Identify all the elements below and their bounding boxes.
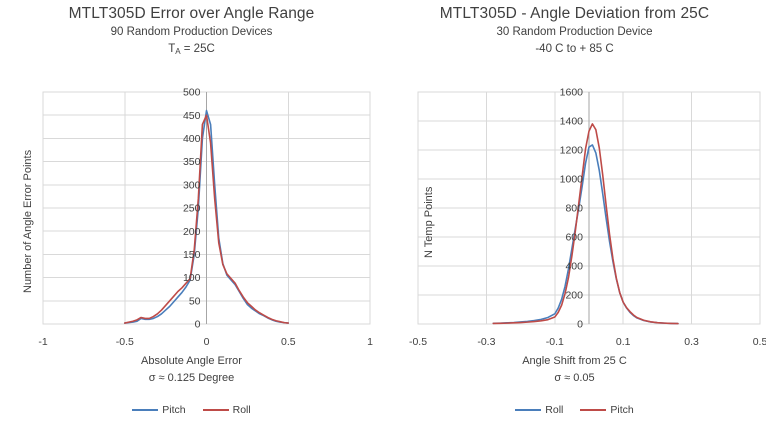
plot-svg-right: 02004006008001000120014001600 [383, 84, 766, 330]
legend-label: Pitch [610, 404, 633, 416]
y-tick-label: 1600 [560, 87, 584, 99]
legend-swatch [203, 409, 229, 411]
x-tick-label: -0.3 [477, 336, 495, 348]
y-axis-label-left: Number of Angle Error Points [22, 150, 34, 293]
ta-suffix: = 25C [181, 43, 215, 55]
chart-title-left: MTLT305D Error over Angle Range [0, 4, 383, 24]
x-axis-caption-right: Angle Shift from 25 C σ ≈ 0.05 [383, 353, 766, 387]
y-tick-label: 450 [183, 110, 201, 122]
legend-label: Roll [233, 404, 251, 416]
x-tick-label: -1 [38, 336, 47, 348]
y-tick-label: 100 [183, 272, 201, 284]
x-axis-tick-labels-right: -0.5-0.3-0.10.10.30.5 [383, 336, 766, 350]
y-tick-label: 300 [183, 179, 201, 191]
x-axis-label-left: Absolute Angle Error [0, 353, 383, 370]
figure-root: MTLT305D Error over Angle Range 90 Rando… [0, 0, 766, 423]
legend-swatch [515, 409, 541, 411]
y-tick-label: 250 [183, 203, 201, 215]
x-tick-label: 0.5 [753, 336, 766, 348]
y-tick-label: 1400 [560, 116, 584, 128]
y-tick-label: 400 [183, 133, 201, 145]
chart-panel-angle-deviation-from-25c: MTLT305D - Angle Deviation from 25C 30 R… [383, 0, 766, 423]
legend-swatch [580, 409, 606, 411]
x-tick-label: -0.5 [116, 336, 134, 348]
y-tick-label: 1000 [560, 174, 584, 186]
y-tick-label: 400 [565, 261, 583, 273]
y-tick-label: 500 [183, 87, 201, 99]
legend-label: Pitch [162, 404, 185, 416]
x-tick-label: 1 [367, 336, 373, 348]
x-tick-label: 0.1 [616, 336, 631, 348]
x-axis-sigma-right: σ ≈ 0.05 [383, 370, 766, 387]
x-tick-label: -0.1 [546, 336, 564, 348]
plot-area-left: 050100150200250300350400450500 [0, 84, 383, 330]
y-tick-label: 600 [565, 232, 583, 244]
x-axis-label-right: Angle Shift from 25 C [383, 353, 766, 370]
x-tick-label: -0.5 [409, 336, 427, 348]
x-axis-sigma-left: σ ≈ 0.125 Degree [0, 370, 383, 387]
chart-panel-error-over-angle-range: MTLT305D Error over Angle Range 90 Rando… [0, 0, 383, 423]
chart-subtitle2-right: -40 C to + 85 C [383, 41, 766, 58]
x-tick-label: 0.3 [684, 336, 699, 348]
y-tick-label: 50 [189, 295, 201, 307]
legend-item[interactable]: Pitch [580, 404, 633, 416]
y-tick-label: 200 [183, 226, 201, 238]
legend-swatch [132, 409, 158, 411]
y-tick-label: 0 [577, 319, 583, 330]
legend-right: RollPitch [383, 404, 766, 416]
y-tick-label: 1200 [560, 145, 584, 157]
chart-title-block-left: MTLT305D Error over Angle Range 90 Rando… [0, 4, 383, 60]
chart-subtitle-left: 90 Random Production Devices [0, 24, 383, 41]
y-tick-label: 200 [565, 290, 583, 302]
y-tick-label: 150 [183, 249, 201, 261]
y-tick-label: 0 [195, 319, 201, 330]
chart-subtitle-right: 30 Random Production Device [383, 24, 766, 41]
y-tick-label: 350 [183, 156, 201, 168]
chart-subtitle2-left: TA = 25C [0, 41, 383, 60]
x-tick-label: 0.5 [281, 336, 296, 348]
legend-item[interactable]: Pitch [132, 404, 185, 416]
legend-item[interactable]: Roll [515, 404, 563, 416]
plot-svg-left: 050100150200250300350400450500 [0, 84, 383, 330]
chart-title-right: MTLT305D - Angle Deviation from 25C [383, 4, 766, 24]
chart-title-block-right: MTLT305D - Angle Deviation from 25C 30 R… [383, 4, 766, 58]
legend-left: PitchRoll [0, 404, 383, 416]
plot-area-right: 02004006008001000120014001600 [383, 84, 766, 330]
x-axis-caption-left: Absolute Angle Error σ ≈ 0.125 Degree [0, 353, 383, 387]
x-tick-label: 0 [204, 336, 210, 348]
legend-item[interactable]: Roll [203, 404, 251, 416]
legend-label: Roll [545, 404, 563, 416]
y-tick-label: 800 [565, 203, 583, 215]
y-axis-label-right: N Temp Points [423, 187, 435, 258]
x-axis-tick-labels-left: -1-0.500.51 [0, 336, 383, 350]
